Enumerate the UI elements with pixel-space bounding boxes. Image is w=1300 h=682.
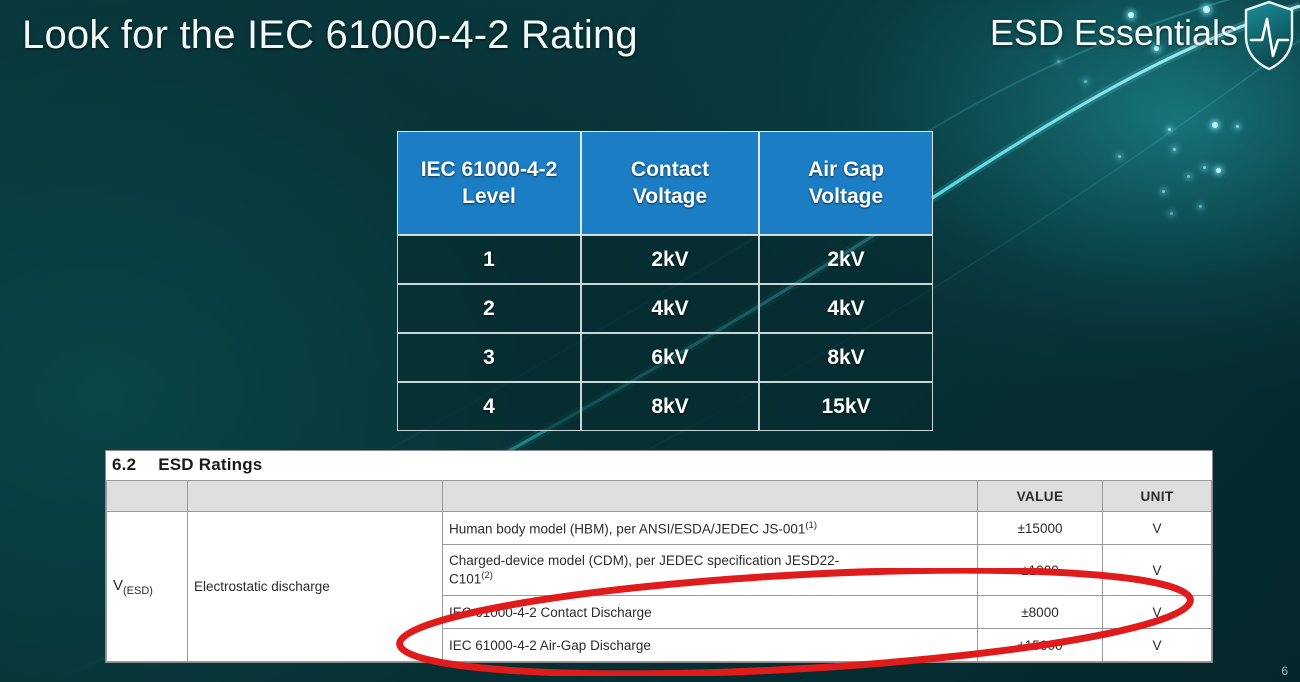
cell-unit: V — [1103, 629, 1212, 662]
cell-air-gap-voltage: 4kV — [759, 284, 933, 333]
column-header-value: VALUE — [978, 481, 1103, 512]
cell-description: IEC 61000-4-2 Air-Gap Discharge — [443, 629, 978, 662]
cell-description: Human body model (HBM), per ANSI/ESDA/JE… — [443, 512, 978, 545]
page-number: 6 — [1281, 664, 1288, 678]
footnote-marker: (2) — [481, 570, 493, 581]
shield-pulse-icon — [1242, 0, 1296, 72]
cell-contact-voltage: 4kV — [581, 284, 759, 333]
table-row: 1 2kV 2kV — [397, 235, 933, 284]
column-header-contact-voltage: Contact Voltage — [581, 131, 759, 235]
cell-value: ±8000 — [978, 596, 1103, 629]
datasheet-excerpt: 6.2ESD Ratings VALUE UNIT V(ESD) Electro… — [105, 450, 1213, 663]
column-header-symbol — [107, 481, 188, 512]
sparkle-particle — [1236, 125, 1239, 128]
cell-value: ±15000 — [978, 512, 1103, 545]
table-header-row: VALUE UNIT — [107, 481, 1212, 512]
cell-level: 4 — [397, 382, 581, 431]
sparkle-particle — [1203, 166, 1206, 169]
sparkle-particle — [1118, 155, 1121, 158]
table-header-row: IEC 61000-4-2 Level Contact Voltage Air … — [397, 131, 933, 235]
cell-air-gap-voltage: 15kV — [759, 382, 933, 431]
cell-unit: V — [1103, 545, 1212, 596]
slide-canvas: Look for the IEC 61000-4-2 Rating ESD Es… — [0, 0, 1300, 682]
cell-description: Charged-device model (CDM), per JEDEC sp… — [443, 545, 978, 596]
sparkle-particle — [1057, 60, 1060, 63]
sparkle-particle — [1084, 80, 1087, 83]
column-header-description — [443, 481, 978, 512]
sparkle-particle — [1173, 148, 1176, 151]
brand-label: ESD Essentials — [990, 12, 1238, 54]
table-row: 2 4kV 4kV — [397, 284, 933, 333]
cell-contact-voltage: 2kV — [581, 235, 759, 284]
cell-level: 2 — [397, 284, 581, 333]
cell-level: 1 — [397, 235, 581, 284]
sparkle-particle — [1187, 175, 1190, 178]
cell-value: ±1000 — [978, 545, 1103, 596]
cell-description: IEC 61000-4-2 Contact Discharge — [443, 596, 978, 629]
sparkle-particle — [1216, 168, 1221, 173]
cell-air-gap-voltage: 8kV — [759, 333, 933, 382]
section-title: ESD Ratings — [158, 455, 262, 474]
iec-level-table: IEC 61000-4-2 Level Contact Voltage Air … — [397, 131, 933, 431]
column-header-air-gap-voltage: Air Gap Voltage — [759, 131, 933, 235]
cell-symbol: V(ESD) — [107, 512, 188, 662]
sparkle-particle — [1170, 212, 1173, 215]
cell-unit: V — [1103, 596, 1212, 629]
table-row: 4 8kV 15kV — [397, 382, 933, 431]
section-number: 6.2 — [112, 455, 136, 474]
sparkle-particle — [1199, 205, 1202, 208]
table-row: V(ESD) Electrostatic discharge Human bod… — [107, 512, 1212, 545]
cell-contact-voltage: 6kV — [581, 333, 759, 382]
column-header-parameter — [188, 481, 443, 512]
cell-air-gap-voltage: 2kV — [759, 235, 933, 284]
sparkle-particle — [1168, 128, 1171, 131]
datasheet-section-heading: 6.2ESD Ratings — [106, 451, 1212, 480]
column-header-unit: UNIT — [1103, 481, 1212, 512]
cell-level: 3 — [397, 333, 581, 382]
cell-unit: V — [1103, 512, 1212, 545]
page-title: Look for the IEC 61000-4-2 Rating — [22, 13, 638, 58]
cell-value: ±15000 — [978, 629, 1103, 662]
cell-contact-voltage: 8kV — [581, 382, 759, 431]
sparkle-particle — [1212, 122, 1218, 128]
sparkle-particle — [1162, 190, 1165, 193]
table-row: 3 6kV 8kV — [397, 333, 933, 382]
cell-parameter: Electrostatic discharge — [188, 512, 443, 662]
esd-ratings-table: VALUE UNIT V(ESD) Electrostatic discharg… — [106, 480, 1212, 662]
footnote-marker: (1) — [805, 520, 817, 531]
column-header-level: IEC 61000-4-2 Level — [397, 131, 581, 235]
